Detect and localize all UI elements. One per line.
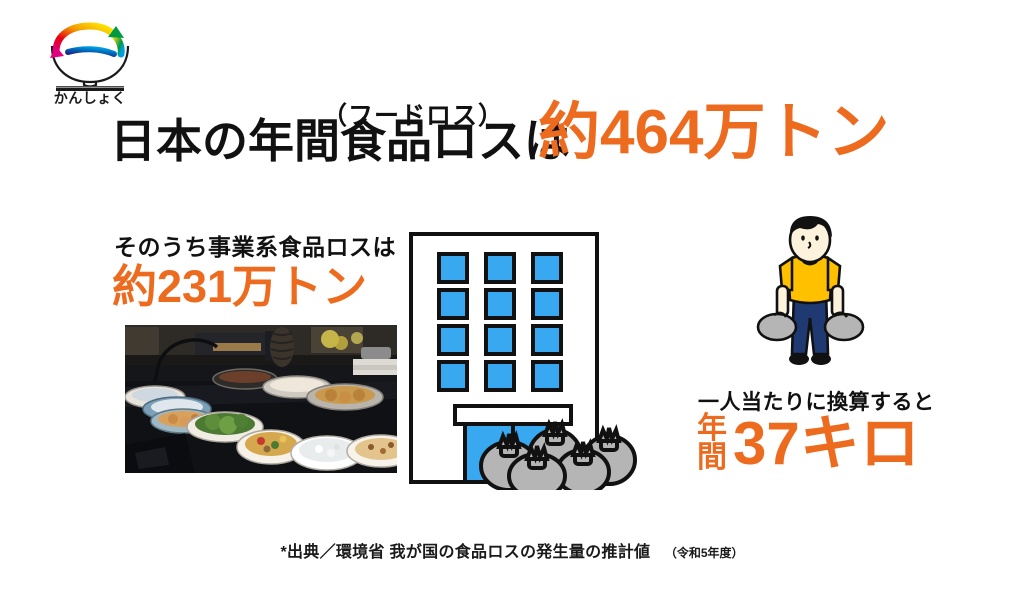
per-person-figure-group: 年 間 37キロ [697, 414, 920, 474]
per-person-figure-37kg: 37キロ [733, 414, 920, 474]
logo-caption: かんしょく [38, 88, 142, 108]
nenkan-char-bottom: 間 [697, 444, 727, 473]
nenkan-char-top: 年 [697, 415, 727, 444]
source-footnote: *出典／環境省 我が国の食品ロスの発生量の推計値 （令和5年度） [0, 538, 1024, 562]
headline-main-text: 日本の年間食品ロスは [110, 118, 570, 164]
headline-figure-464: 約464万トン [538, 102, 889, 164]
business-loss-figure-231: 約231万トン [112, 264, 367, 309]
business-loss-label: そのうち事業系食品ロスは [114, 228, 396, 262]
footnote-year-note: （令和5年度） [665, 546, 744, 560]
person-carrying-bags-illustration [752, 214, 868, 376]
footnote-source-text: *出典／環境省 我が国の食品ロスの発生量の推計値 [280, 544, 650, 561]
infographic-canvas: かんしょく （フードロス） 日本の年間食品ロスは 約464万トン そのうち事業系… [0, 0, 1024, 594]
rice-bowl-icon [38, 18, 142, 92]
per-person-vertical-nenkan: 年 間 [697, 415, 727, 473]
person-bag-left [758, 313, 796, 340]
buffet-food-photo [125, 325, 397, 473]
office-building-illustration [403, 228, 643, 490]
person-bag-right [825, 313, 863, 340]
kanshoku-logo: かんしょく [38, 18, 142, 118]
